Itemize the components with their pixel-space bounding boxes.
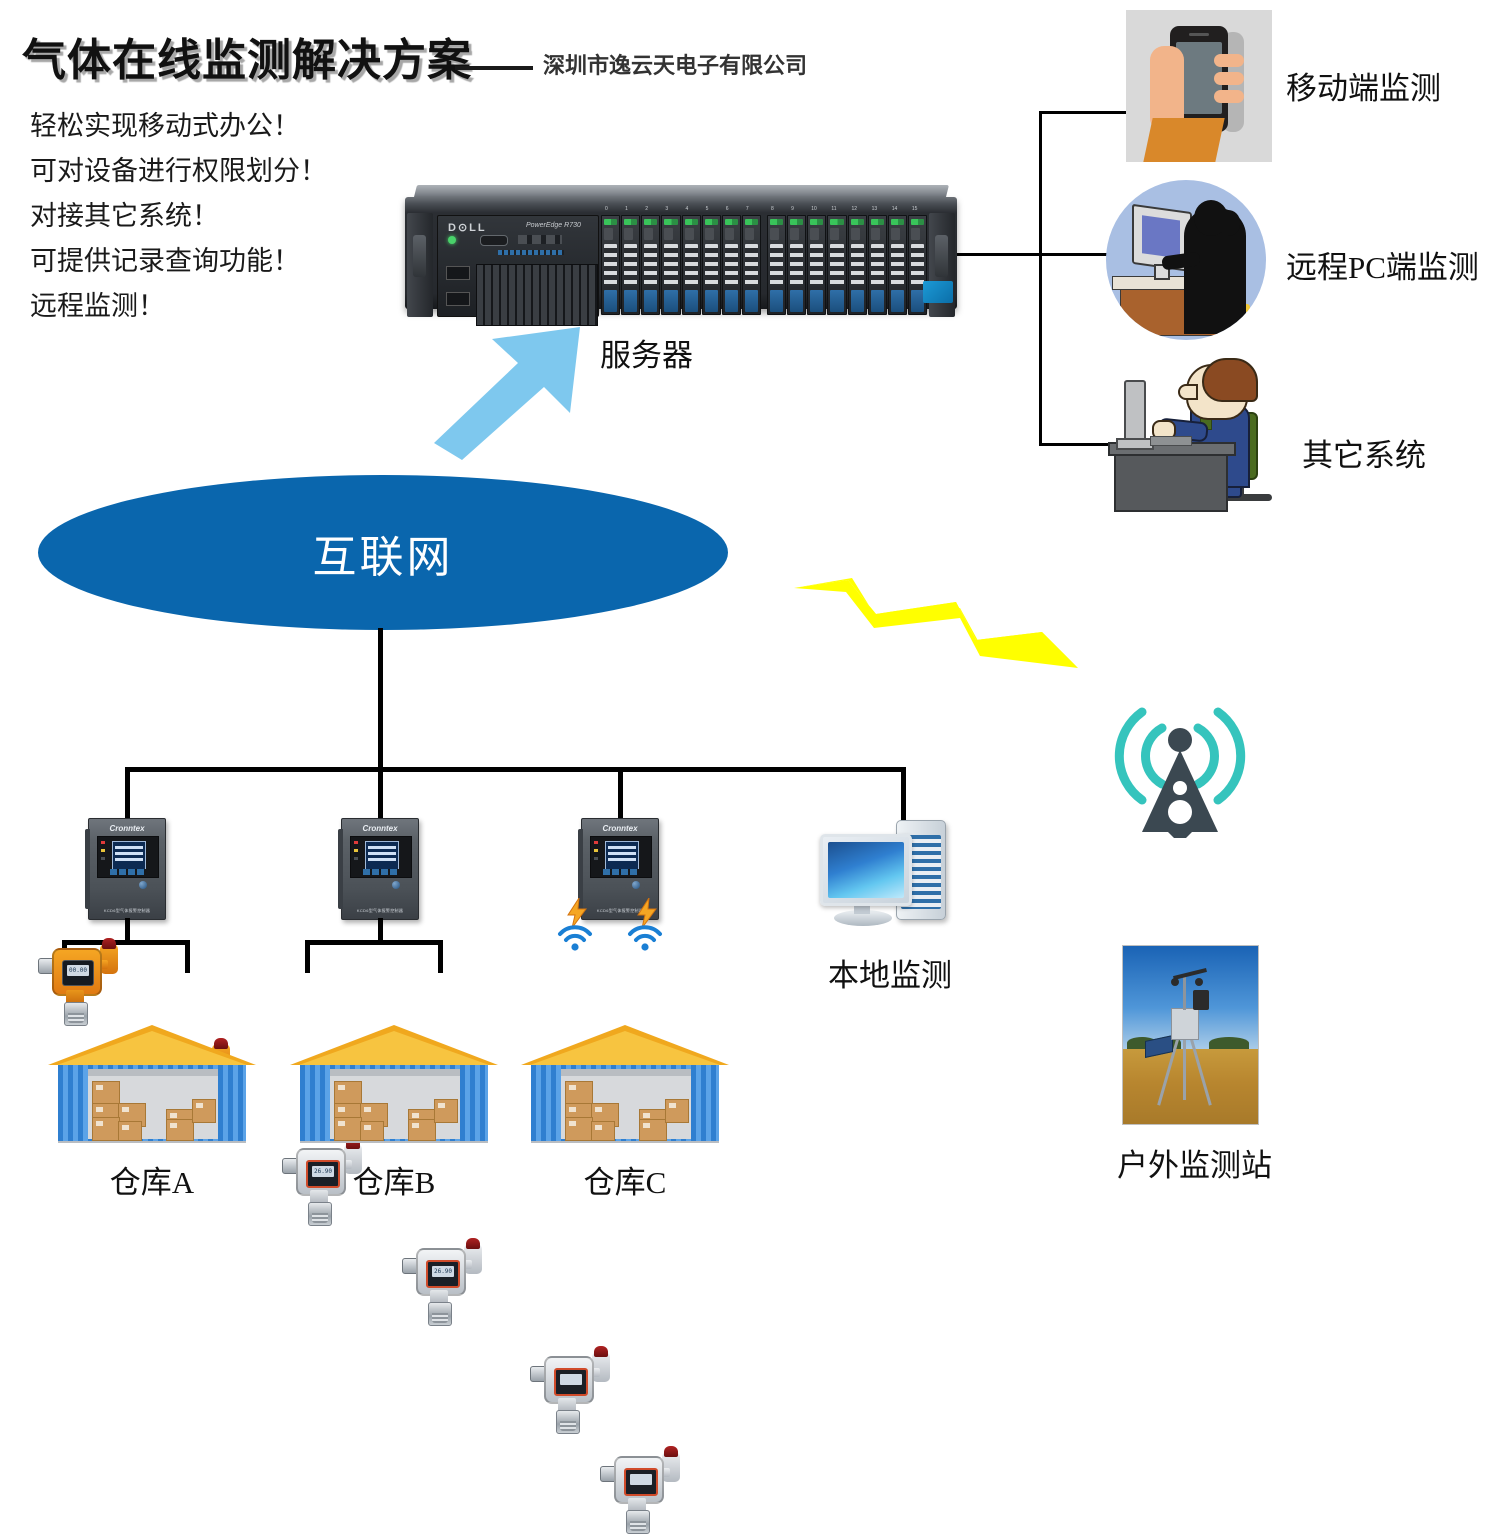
server-drive-bay: 10	[807, 215, 826, 315]
feature-list: 轻松实现移动式办公！ 可对设备进行权限划分！ 对接其它系统！ 可提供记录查询功能…	[30, 104, 390, 329]
drive-label	[810, 290, 823, 312]
drive-bay-number: 3	[665, 206, 668, 212]
controller-knob[interactable]	[632, 881, 640, 889]
fault-led-icon	[354, 849, 358, 852]
lightning-bolt-icon	[790, 578, 1090, 673]
server-control-panel: D⊙LL PowerEdge R730	[437, 215, 599, 317]
connector-to-other-system	[1039, 443, 1119, 446]
warehouse-b-label: 仓库B	[290, 1157, 498, 1202]
drive-release-lever	[911, 228, 920, 240]
ventilation-grille	[476, 264, 598, 326]
wifi-signal-icon	[556, 925, 594, 951]
drive-label	[664, 290, 677, 312]
local-monitoring-label: 本地监测	[828, 950, 952, 995]
connector-to-detector-b2	[438, 940, 443, 973]
connector-bus-to-controller-a	[125, 767, 130, 819]
alarm-led-icon	[354, 841, 358, 844]
detector-sensor-probe	[626, 1510, 650, 1534]
drive-label	[871, 290, 884, 312]
drive-label	[705, 290, 718, 312]
server-image: D⊙LL PowerEdge R730 01234567891011121314…	[405, 185, 957, 315]
connector-bus-to-controller-c	[618, 767, 623, 819]
desktop-and-server-icon	[818, 812, 948, 937]
detector-readout	[630, 1474, 652, 1485]
other-system-label: 其它系统	[1302, 430, 1426, 475]
controller-keypad[interactable]	[363, 869, 399, 875]
feature-item: 对接其它系统！	[30, 194, 390, 239]
server-drive-bay: 11	[827, 215, 846, 315]
drive-carrier-grip	[891, 244, 904, 286]
drive-carrier-grip	[851, 244, 864, 286]
drive-label	[790, 290, 803, 312]
drive-release-lever	[770, 228, 779, 240]
controller-brand-label: Cronntex	[582, 824, 658, 833]
feature-item: 远程监测！	[30, 284, 390, 329]
cargo-box	[166, 1119, 194, 1141]
radio-antenna-icon	[1090, 680, 1270, 860]
drive-carrier-grip	[871, 244, 884, 286]
warehouse-b: 仓库B	[290, 1025, 498, 1202]
gas-detector-c1[interactable]	[530, 1338, 614, 1438]
controller-hinge	[578, 829, 583, 909]
server-drive-bays: 0123456789101112131415	[601, 215, 927, 315]
cargo-box	[434, 1099, 458, 1123]
tripod-leg	[1183, 1036, 1186, 1100]
alarm-led-icon	[594, 841, 598, 844]
detector-sensor-probe	[556, 1410, 580, 1434]
cargo-box	[360, 1121, 384, 1141]
status-led-icon	[101, 857, 105, 860]
server-drive-bay: 3	[661, 215, 680, 315]
detector-sensor-probe	[428, 1302, 452, 1326]
drive-carrier-grip	[725, 244, 738, 286]
man-nose	[1178, 384, 1198, 400]
title-divider-dash	[455, 66, 533, 70]
connector-detector-bus-b	[305, 940, 442, 945]
monitor-screen	[1142, 215, 1180, 258]
warehouse-building	[290, 1025, 498, 1143]
connector-to-detector-b1	[305, 940, 310, 973]
drive-release-lever	[790, 228, 799, 240]
server-drive-bay: 8	[767, 215, 786, 315]
drive-bay-number: 15	[912, 206, 918, 212]
gas-alarm-controller-b[interactable]: Cronntex KCD6型气体报警控制器	[341, 818, 419, 920]
drive-label	[604, 290, 617, 312]
controller-keypad[interactable]	[110, 869, 146, 875]
connector-to-pc	[1039, 253, 1114, 256]
drive-carrier-grip	[604, 244, 617, 286]
warehouse-roof-highlight	[57, 1031, 247, 1065]
drive-release-lever	[624, 228, 633, 240]
hand-finger	[1214, 72, 1244, 85]
drive-release-lever	[871, 228, 880, 240]
anemometer-cup	[1195, 978, 1203, 986]
status-led-icon	[354, 857, 358, 860]
drive-bay-number: 13	[872, 206, 878, 212]
desk-body	[1114, 450, 1228, 512]
warehouse-roof-highlight	[299, 1031, 489, 1065]
gas-detector-b2[interactable]: 26.90	[402, 1230, 486, 1330]
cargo-box	[565, 1117, 593, 1141]
controller-brand-label: Cronntex	[342, 824, 418, 833]
connector-to-detector-a2	[185, 940, 190, 973]
warehouse-building	[521, 1025, 729, 1143]
server-drive-bay: 5	[702, 215, 721, 315]
cargo-box	[591, 1121, 615, 1141]
internet-cloud-ellipse: 互联网	[38, 475, 728, 630]
drive-release-lever	[810, 228, 819, 240]
drive-release-lever	[745, 228, 754, 240]
drive-label	[891, 290, 904, 312]
drive-carrier-grip	[644, 244, 657, 286]
controller-keypad[interactable]	[603, 869, 639, 875]
cargo-box	[92, 1117, 120, 1141]
drive-label	[685, 290, 698, 312]
controller-brand-label: Cronntex	[89, 824, 165, 833]
drive-release-lever	[685, 228, 694, 240]
server-pointer-arrow-icon	[432, 325, 582, 460]
drive-carrier-grip	[745, 244, 758, 286]
feature-item: 轻松实现移动式办公！	[30, 104, 390, 149]
remote-pc-monitoring-label: 远程PC端监测	[1286, 242, 1479, 287]
controller-display-bezel	[97, 836, 159, 878]
detector-display-bezel	[554, 1368, 588, 1396]
phone-speaker	[1189, 33, 1209, 36]
hand-sleeve	[1143, 118, 1224, 162]
warehouse-door-lintel	[561, 1069, 691, 1076]
drive-bay-number: 8	[771, 206, 774, 212]
drive-activity-led-icon	[810, 219, 823, 225]
drive-activity-led-icon	[685, 219, 698, 225]
drive-activity-led-icon	[604, 219, 617, 225]
drive-release-lever	[644, 228, 653, 240]
detector-readout	[560, 1374, 582, 1385]
controller-knob[interactable]	[392, 881, 400, 889]
man-hair	[1202, 358, 1258, 402]
weather-station-photo	[1122, 945, 1259, 1125]
server-chassis: D⊙LL PowerEdge R730 01234567891011121314…	[405, 197, 957, 309]
detector-alarm-lamp	[594, 1346, 608, 1357]
drive-bay-number: 1	[625, 206, 628, 212]
drive-carrier-grip	[830, 244, 843, 286]
person-at-pc-icon	[1106, 180, 1266, 340]
drive-carrier-grip	[810, 244, 823, 286]
cargo-box	[192, 1099, 216, 1123]
gas-alarm-controller-a[interactable]: Cronntex KCD6型气体报警控制器	[88, 818, 166, 920]
page-title: 气体在线监测解决方案	[22, 24, 472, 88]
detector-sensor-probe	[308, 1202, 332, 1226]
drive-label	[830, 290, 843, 312]
connector-controller-b-down	[378, 918, 383, 942]
power-led-icon	[448, 236, 456, 244]
connector-bus-to-controller-b	[378, 767, 383, 819]
server-drive-bay: 1	[621, 215, 640, 315]
server-drive-bay: 4	[682, 215, 701, 315]
detector-sensor-probe	[64, 1002, 88, 1026]
warehouse-building	[48, 1025, 256, 1143]
drive-carrier-grip	[685, 244, 698, 286]
feature-item: 可对设备进行权限划分！	[30, 149, 390, 194]
hand-finger	[1214, 90, 1244, 103]
detector-alarm-lamp	[664, 1446, 678, 1457]
drive-activity-led-icon	[871, 219, 884, 225]
drive-release-lever	[851, 228, 860, 240]
detector-readout: 00.00	[67, 965, 89, 976]
gas-detector-a1[interactable]: 00.00	[38, 930, 122, 1030]
drive-activity-led-icon	[624, 219, 637, 225]
monitor-stand	[1116, 438, 1154, 450]
monitor-frame	[820, 834, 912, 906]
detector-housing: 00.00	[52, 948, 102, 996]
cargo-box	[334, 1117, 362, 1141]
intel-badge-icon	[923, 281, 953, 303]
status-lcd-bar	[498, 250, 564, 255]
outdoor-station-label: 户外监测站	[1117, 1140, 1272, 1185]
drive-release-lever	[604, 228, 613, 240]
drive-label	[851, 290, 864, 312]
drive-carrier-grip	[770, 244, 783, 286]
drive-activity-led-icon	[664, 219, 677, 225]
drive-carrier-grip	[664, 244, 677, 286]
keyboard-icon	[1150, 436, 1192, 446]
drive-label	[624, 290, 637, 312]
cargo-box	[565, 1081, 593, 1105]
hand-finger	[1214, 54, 1244, 67]
controller-model-label: KCD6型气体报警控制器	[89, 908, 165, 914]
connector-controller-a-down	[125, 918, 130, 942]
drive-bay-number: 0	[605, 206, 608, 212]
drive-bay-number: 7	[746, 206, 749, 212]
server-drive-bay: 6	[722, 215, 741, 315]
monitor-screen	[828, 842, 904, 898]
cargo-box	[665, 1099, 689, 1123]
feature-item: 可提供记录查询功能！	[30, 239, 390, 284]
vga-port-icon	[480, 235, 508, 246]
fault-led-icon	[594, 849, 598, 852]
drive-label	[644, 290, 657, 312]
drive-activity-led-icon	[911, 219, 924, 225]
connector-to-mobile	[1039, 111, 1129, 114]
drive-bay-number: 12	[852, 206, 858, 212]
controller-hinge	[338, 829, 343, 909]
station-enclosure	[1171, 1008, 1199, 1040]
radiation-shield-sensor	[1193, 990, 1209, 1010]
photo-ground	[1123, 1049, 1258, 1124]
photo-tree	[1209, 1037, 1249, 1049]
detector-readout: 26.90	[432, 1266, 454, 1277]
drive-release-lever	[705, 228, 714, 240]
drive-activity-led-icon	[745, 219, 758, 225]
server-model-label: PowerEdge R730	[526, 222, 581, 229]
detector-alarm-lamp	[102, 938, 116, 949]
wifi-signal-icon	[626, 925, 664, 951]
drive-bay-number: 11	[831, 206, 836, 212]
man-at-computer-icon	[1108, 358, 1278, 518]
station-mast	[1183, 976, 1186, 1010]
mobile-phone-in-hand-icon	[1126, 10, 1272, 162]
server-drive-bay: 2	[641, 215, 660, 315]
controller-knob[interactable]	[139, 881, 147, 889]
drive-carrier-grip	[911, 244, 924, 286]
warehouse-c: 仓库C	[521, 1025, 729, 1202]
drive-activity-led-icon	[830, 219, 843, 225]
server-rack-ear-left	[407, 213, 433, 317]
drive-activity-led-icon	[644, 219, 657, 225]
warehouse-a: 仓库A	[48, 1025, 256, 1202]
detector-housing	[614, 1456, 664, 1504]
warehouse-door-lintel	[330, 1069, 460, 1076]
controller-model-label: KCD6型气体报警控制器	[342, 908, 418, 914]
internet-label: 互联网	[313, 521, 454, 585]
drive-bay-number: 2	[645, 206, 648, 212]
drive-release-lever	[891, 228, 900, 240]
drive-bay-number: 5	[706, 206, 709, 212]
drive-label	[745, 290, 758, 312]
usb-port-icon	[446, 292, 470, 306]
detector-housing: 26.90	[416, 1248, 466, 1296]
server-drive-bay: 14	[888, 215, 907, 315]
drive-activity-led-icon	[725, 219, 738, 225]
cargo-box	[334, 1081, 362, 1105]
mobile-monitoring-label: 移动端监测	[1286, 63, 1441, 108]
drive-release-lever	[664, 228, 673, 240]
server-label: 服务器	[600, 330, 693, 375]
server-drive-bay: 12	[848, 215, 867, 315]
detector-housing	[544, 1356, 594, 1404]
horizontal-bus	[125, 767, 905, 772]
drive-activity-led-icon	[790, 219, 803, 225]
drive-label	[725, 290, 738, 312]
company-name: 深圳市逸云天电子有限公司	[543, 48, 807, 80]
server-drive-bay: 7	[742, 215, 761, 315]
controller-display-bezel	[590, 836, 652, 878]
server-drive-bay: 13	[868, 215, 887, 315]
connector-server-to-right-trunk	[957, 253, 1042, 256]
detector-display-bezel	[624, 1468, 658, 1496]
cargo-box	[639, 1119, 667, 1141]
drive-release-lever	[725, 228, 734, 240]
detector-display-bezel: 00.00	[62, 960, 94, 986]
wireless-bolt-icon	[636, 898, 658, 928]
server-drive-bay: 9	[787, 215, 806, 315]
drive-activity-led-icon	[851, 219, 864, 225]
front-buttons	[518, 235, 562, 244]
dell-logo: D⊙LL	[448, 221, 487, 234]
warehouse-c-label: 仓库C	[521, 1157, 729, 1202]
warehouse-roof-highlight	[530, 1031, 720, 1065]
connector-right-trunk	[1039, 111, 1042, 445]
detector-display-bezel: 26.90	[426, 1260, 460, 1288]
usb-port-icon	[446, 266, 470, 280]
cargo-box	[92, 1081, 120, 1105]
warehouse-door-lintel	[88, 1069, 218, 1076]
detector-alarm-lamp	[466, 1238, 480, 1249]
drive-activity-led-icon	[770, 219, 783, 225]
drive-carrier-grip	[624, 244, 637, 286]
fault-led-icon	[101, 849, 105, 852]
drive-label	[770, 290, 783, 312]
drive-carrier-grip	[790, 244, 803, 286]
anemometer-cup	[1171, 978, 1179, 986]
cargo-box	[408, 1119, 436, 1141]
alarm-led-icon	[101, 841, 105, 844]
drive-bay-number: 6	[726, 206, 729, 212]
warehouse-a-label: 仓库A	[48, 1157, 256, 1202]
drive-carrier-grip	[705, 244, 718, 286]
controller-display-bezel	[350, 836, 412, 878]
gas-detector-c2[interactable]	[600, 1438, 684, 1538]
cargo-box	[118, 1121, 142, 1141]
wireless-bolt-icon	[566, 898, 588, 928]
connector-internet-to-bus	[378, 628, 383, 770]
status-led-icon	[594, 857, 598, 860]
drive-bay-number: 14	[892, 206, 898, 212]
drive-activity-led-icon	[705, 219, 718, 225]
server-drive-bay: 0	[601, 215, 620, 315]
drive-release-lever	[830, 228, 839, 240]
drive-bay-number: 4	[686, 206, 689, 212]
controller-hinge	[85, 829, 90, 909]
drive-activity-led-icon	[891, 219, 904, 225]
drive-bay-number: 9	[791, 206, 794, 212]
drive-bay-number: 10	[811, 206, 817, 212]
